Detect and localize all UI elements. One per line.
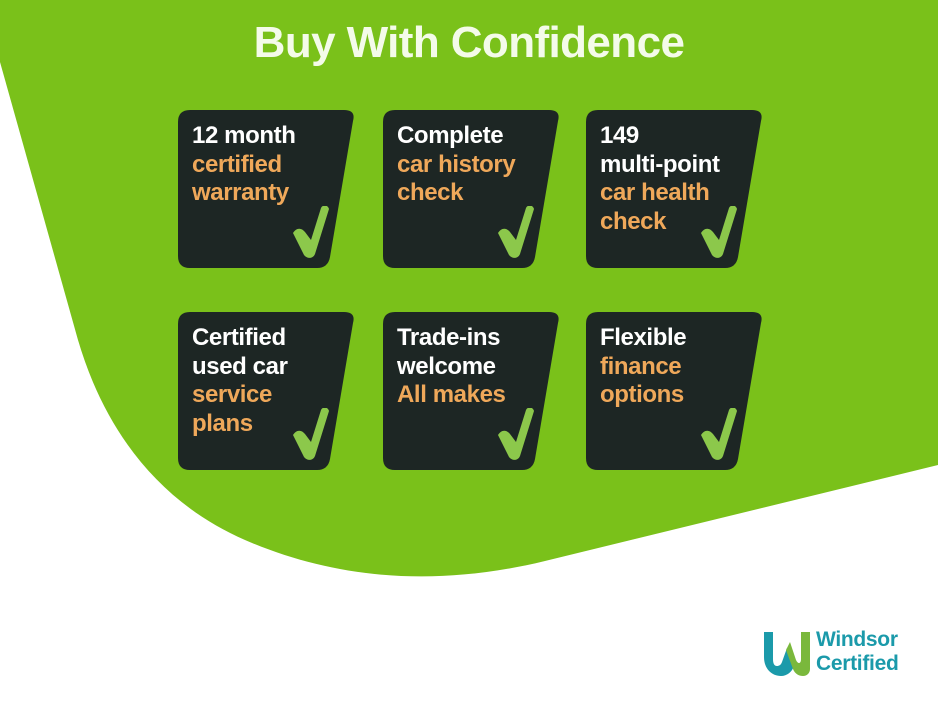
card-text-block: Complete car history check: [397, 122, 565, 208]
card-line: Trade-ins: [397, 324, 565, 353]
card-line: finance: [600, 353, 768, 382]
card-line: check: [600, 208, 768, 237]
card-line: All makes: [397, 381, 565, 410]
windsor-certified-logo[interactable]: Windsor Certified: [760, 626, 928, 682]
card-line: used car: [192, 353, 360, 382]
benefit-card[interactable]: Trade-ins welcome All makes: [383, 312, 561, 470]
check-mark-icon: [495, 206, 535, 258]
card-text-block: Trade-ins welcome All makes: [397, 324, 565, 410]
card-text-block: 12 month certified warranty: [192, 122, 360, 208]
benefit-card[interactable]: 149 multi-point car health check: [586, 110, 764, 268]
benefit-card-grid: 12 month certified warranty Complete car…: [178, 110, 788, 470]
check-mark-icon: [290, 206, 330, 258]
card-line: car history: [397, 151, 565, 180]
card-line: warranty: [192, 179, 360, 208]
card-line: 12 month: [192, 122, 360, 151]
logo-line-1: Windsor: [816, 628, 898, 652]
page-title: Buy With Confidence: [0, 16, 938, 70]
benefit-card[interactable]: 12 month certified warranty: [178, 110, 356, 268]
card-line: multi-point: [600, 151, 768, 180]
check-mark-icon: [698, 408, 738, 460]
card-text-block: 149 multi-point car health check: [600, 122, 768, 236]
card-text-block: Flexible finance options: [600, 324, 768, 410]
card-line: Certified: [192, 324, 360, 353]
benefit-card[interactable]: Flexible finance options: [586, 312, 764, 470]
card-line: Complete: [397, 122, 565, 151]
benefit-card[interactable]: Complete car history check: [383, 110, 561, 268]
card-line: service: [192, 381, 360, 410]
card-line: 149: [600, 122, 768, 151]
windsor-w-icon: [760, 628, 812, 678]
benefit-card[interactable]: Certified used car service plans: [178, 312, 356, 470]
check-mark-icon: [495, 408, 535, 460]
poster-canvas: Buy With Confidence 12 month certified w…: [0, 0, 938, 704]
card-line: welcome: [397, 353, 565, 382]
card-line: Flexible: [600, 324, 768, 353]
card-line: check: [397, 179, 565, 208]
logo-wordmark: Windsor Certified: [816, 628, 898, 676]
logo-line-2: Certified: [816, 652, 898, 676]
card-line: options: [600, 381, 768, 410]
card-line: plans: [192, 410, 360, 439]
card-line: certified: [192, 151, 360, 180]
card-line: car health: [600, 179, 768, 208]
card-text-block: Certified used car service plans: [192, 324, 360, 438]
